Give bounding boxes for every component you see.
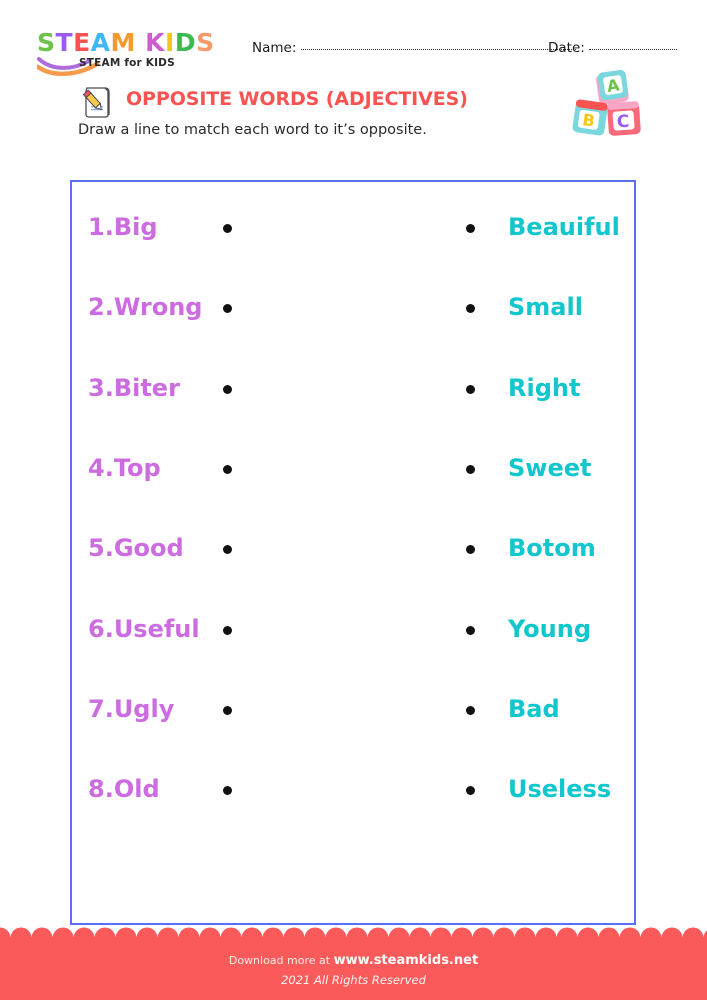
name-label: Name:: [252, 40, 296, 56]
name-input-line[interactable]: [301, 41, 576, 50]
name-field[interactable]: Name:: [252, 40, 576, 56]
logo-letter-0: S: [37, 30, 56, 56]
logo-letter-9: S: [196, 30, 215, 56]
svg-text:C: C: [616, 112, 630, 133]
date-field[interactable]: Date:: [548, 40, 677, 56]
logo-letter-5: [136, 30, 145, 56]
logo-wordmark: STEAM KIDS: [37, 30, 237, 56]
svg-text:B: B: [581, 110, 596, 131]
footer-download-text: Download more at www.steamkids.net: [0, 953, 707, 968]
logo-letter-3: A: [91, 30, 111, 56]
page-title: OPPOSITE WORDS (ADJECTIVES): [126, 88, 468, 110]
scallop-edge-decoration: [0, 927, 707, 949]
date-input-line[interactable]: [589, 41, 677, 50]
logo-tagline: STEAM for KIDS: [79, 57, 175, 69]
page-footer: Download more at www.steamkids.net 2021 …: [0, 937, 707, 1000]
logo-letter-2: E: [73, 30, 91, 56]
abc-blocks-icon: A B C: [566, 70, 654, 140]
footer-website-link[interactable]: www.steamkids.net: [334, 953, 479, 968]
date-label: Date:: [548, 40, 585, 56]
logo-letter-8: D: [175, 30, 196, 56]
logo-letter-6: K: [145, 30, 165, 56]
logo-letter-1: T: [56, 30, 74, 56]
page-header: STEAM KIDS STEAM for KIDS Name: Date:: [0, 0, 707, 78]
logo-letter-4: M: [111, 30, 136, 56]
footer-copyright: 2021 All Rights Reserved: [0, 973, 707, 987]
brand-logo: STEAM KIDS STEAM for KIDS: [37, 30, 237, 76]
logo-letter-7: I: [165, 30, 175, 56]
student-fields: Name: Date:: [252, 40, 692, 62]
worksheet-page: STEAM KIDS STEAM for KIDS Name: Date:: [0, 0, 707, 1000]
matching-exercise-box: [70, 180, 636, 925]
page-subtitle: Draw a line to match each word to it’s o…: [78, 122, 427, 138]
notepad-pencil-icon: [78, 84, 116, 120]
footer-prefix: Download more at: [229, 954, 334, 967]
